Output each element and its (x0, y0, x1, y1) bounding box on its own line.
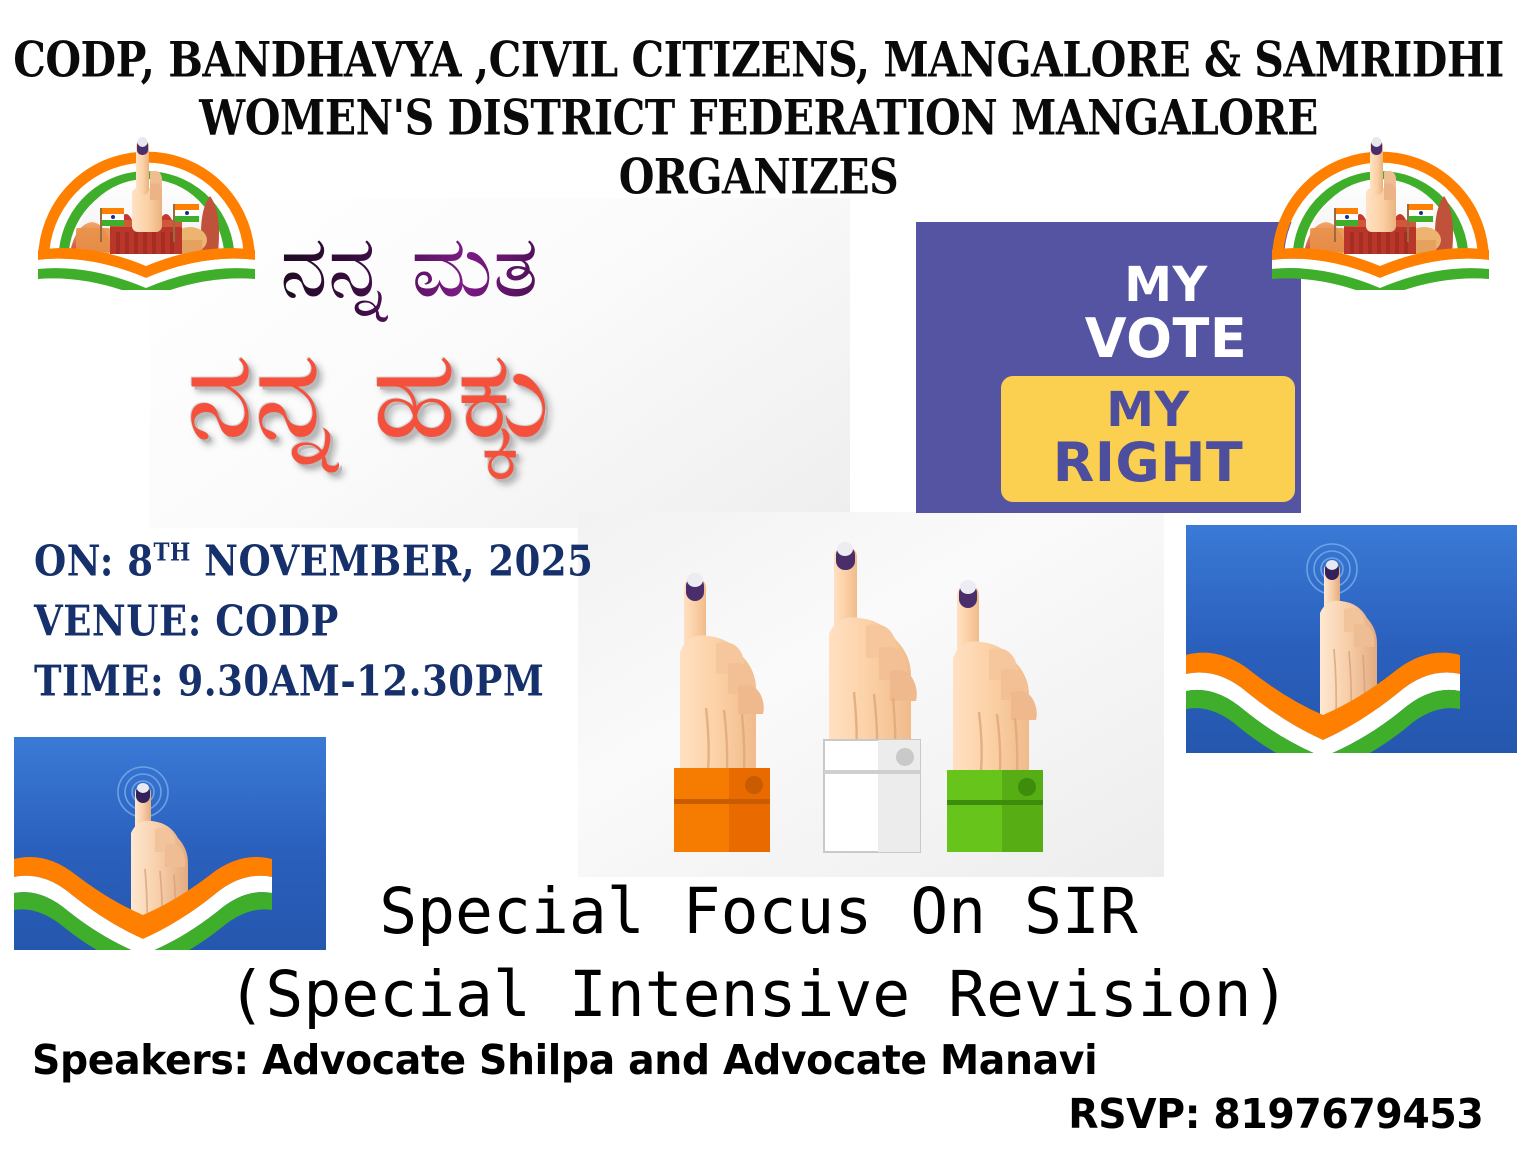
right-word-right: RIGHT (1001, 436, 1295, 490)
sir-headline-line-1: Special Focus On SIR (0, 870, 1517, 953)
event-date-label: ON: (34, 535, 114, 586)
sir-headline: Special Focus On SIR (Special Intensive … (0, 870, 1517, 1036)
my-right-badge: MY RIGHT (1001, 376, 1295, 502)
voting-hand-orange (674, 573, 770, 852)
event-details: ON: 8TH NOVEMBER, 2025 VENUE: CODP TIME:… (34, 540, 593, 720)
voting-hand-white (824, 542, 920, 852)
poster-header: CODP, BANDHAVYA ,CIVIL CITIZENS, MANGALO… (0, 34, 1517, 195)
vote-word-vote: VOTE (1037, 313, 1295, 366)
event-time-line: TIME: 9.30AM-12.30PM (34, 660, 593, 703)
three-voting-hands-illustration (578, 512, 1164, 877)
event-venue-line: VENUE: CODP (34, 600, 593, 643)
my-vote-my-right-panel: MY VOTE MY RIGHT (916, 222, 1301, 513)
poster-canvas: CODP, BANDHAVYA ,CIVIL CITIZENS, MANGALO… (0, 0, 1517, 1151)
speakers-line: Speakers: Advocate Shilpa and Advocate M… (32, 1036, 1097, 1084)
event-date-rest: NOVEMBER, 2025 (204, 535, 593, 586)
vote-word-my: MY (1037, 262, 1295, 309)
kannada-slogan-line-2: ನನ್ನ ಹಕ್ಕು (186, 318, 562, 471)
vote-text-stack: MY VOTE MY RIGHT (1037, 262, 1295, 502)
event-date-day: 8 (127, 535, 153, 586)
rsvp-line: RSVP: 8197679453 (1068, 1090, 1483, 1138)
header-line-1: CODP, BANDHAVYA ,CIVIL CITIZENS, MANGALO… (0, 34, 1517, 86)
header-line-2: WOMEN'S DISTRICT FEDERATION MANGALORE (0, 92, 1517, 144)
kannada-slogan-line-1: ನನ್ನ ಮತ (280, 214, 539, 322)
three-inked-fingers-image (578, 512, 1164, 877)
right-word-my: MY (1001, 386, 1295, 434)
blue-tricolor-ribbon-voting-hand (1186, 525, 1517, 753)
voting-hand-green (947, 580, 1043, 852)
header-line-3: ORGANIZES (0, 151, 1517, 203)
event-date-line: ON: 8TH NOVEMBER, 2025 (34, 540, 593, 583)
flag-panel-right (1186, 525, 1517, 753)
event-date-ordinal: TH (154, 538, 191, 567)
sir-headline-line-2: (Special Intensive Revision) (0, 953, 1517, 1036)
